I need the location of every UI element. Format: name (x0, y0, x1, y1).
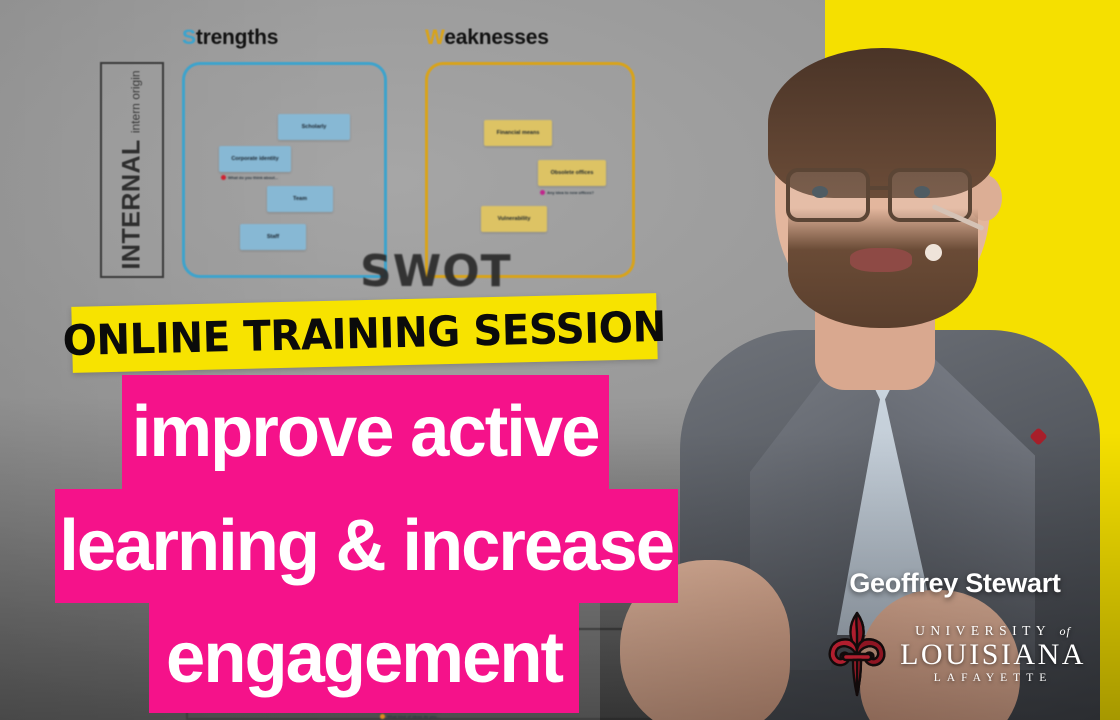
board-comment: What kind of ideas do you... (380, 714, 440, 719)
sticky-note: Team (267, 186, 333, 212)
comment-dot-icon (221, 175, 226, 180)
university-line-2: LOUISIANA (900, 640, 1086, 670)
sticky-note: Vulnerability (481, 206, 547, 232)
swot-axis-internal: INTERNAL intern origin (100, 62, 164, 278)
headline-line-3: engagement (149, 603, 579, 713)
swot-title-weaknesses-initial: W (425, 26, 444, 49)
sticky-note: Financial means (484, 120, 552, 146)
headline-line-2-text: learning & increase (60, 510, 674, 582)
fleur-de-lis-icon (826, 610, 888, 698)
sticky-note: Obsolete offices (538, 160, 606, 186)
university-of: of (1060, 624, 1071, 638)
university-logo: UNIVERSITY of LOUISIANA LAFAYETTE (826, 608, 1088, 700)
board-comment: Any idea to new offices? (540, 190, 594, 195)
video-thumbnail: INTERNAL intern origin Strengths Weaknes… (0, 0, 1120, 720)
comment-dot-icon (540, 190, 545, 195)
sticky-note: Scholarly (278, 114, 350, 140)
swot-axis-subtitle: intern origin (129, 70, 143, 133)
board-comment: What do you think about... (221, 175, 278, 180)
swot-title-strengths-rest: trengths (196, 26, 278, 49)
university-word: UNIVERSITY (915, 623, 1051, 638)
sticky-note: Corporate identity (219, 146, 291, 172)
comment-text: What kind of ideas do you... (387, 714, 440, 719)
swot-watermark: SWOT (360, 246, 512, 297)
headline-line-3-text: engagement (166, 622, 562, 694)
comment-text: What do you think about... (228, 175, 278, 180)
comment-dot-icon (380, 714, 385, 719)
headline-line-1-text: improve active (132, 396, 599, 468)
swot-title-weaknesses-rest: eaknesses (444, 26, 548, 49)
university-line-3: LAFAYETTE (934, 673, 1053, 685)
headline-line-1: improve active (122, 375, 609, 489)
swot-axis-internal-label: INTERNAL intern origin (118, 70, 147, 269)
sticky-note: Staff (240, 224, 306, 250)
kicker-banner: ONLINE TRAINING SESSION (71, 293, 657, 373)
swot-title-strengths-initial: S (182, 26, 196, 49)
swot-title-strengths: Strengths (182, 26, 278, 50)
swot-axis-title: INTERNAL (118, 139, 147, 269)
headline-line-2: learning & increase (55, 489, 678, 603)
swot-title-weaknesses: Weaknesses (425, 26, 549, 50)
kicker-text: ONLINE TRAINING SESSION (62, 301, 666, 364)
university-line-1: UNIVERSITY of (915, 624, 1071, 638)
comment-text: Any idea to new offices? (547, 190, 594, 195)
speaker-name: Geoffrey Stewart (826, 568, 1084, 599)
university-wordmark: UNIVERSITY of LOUISIANA LAFAYETTE (898, 624, 1088, 685)
